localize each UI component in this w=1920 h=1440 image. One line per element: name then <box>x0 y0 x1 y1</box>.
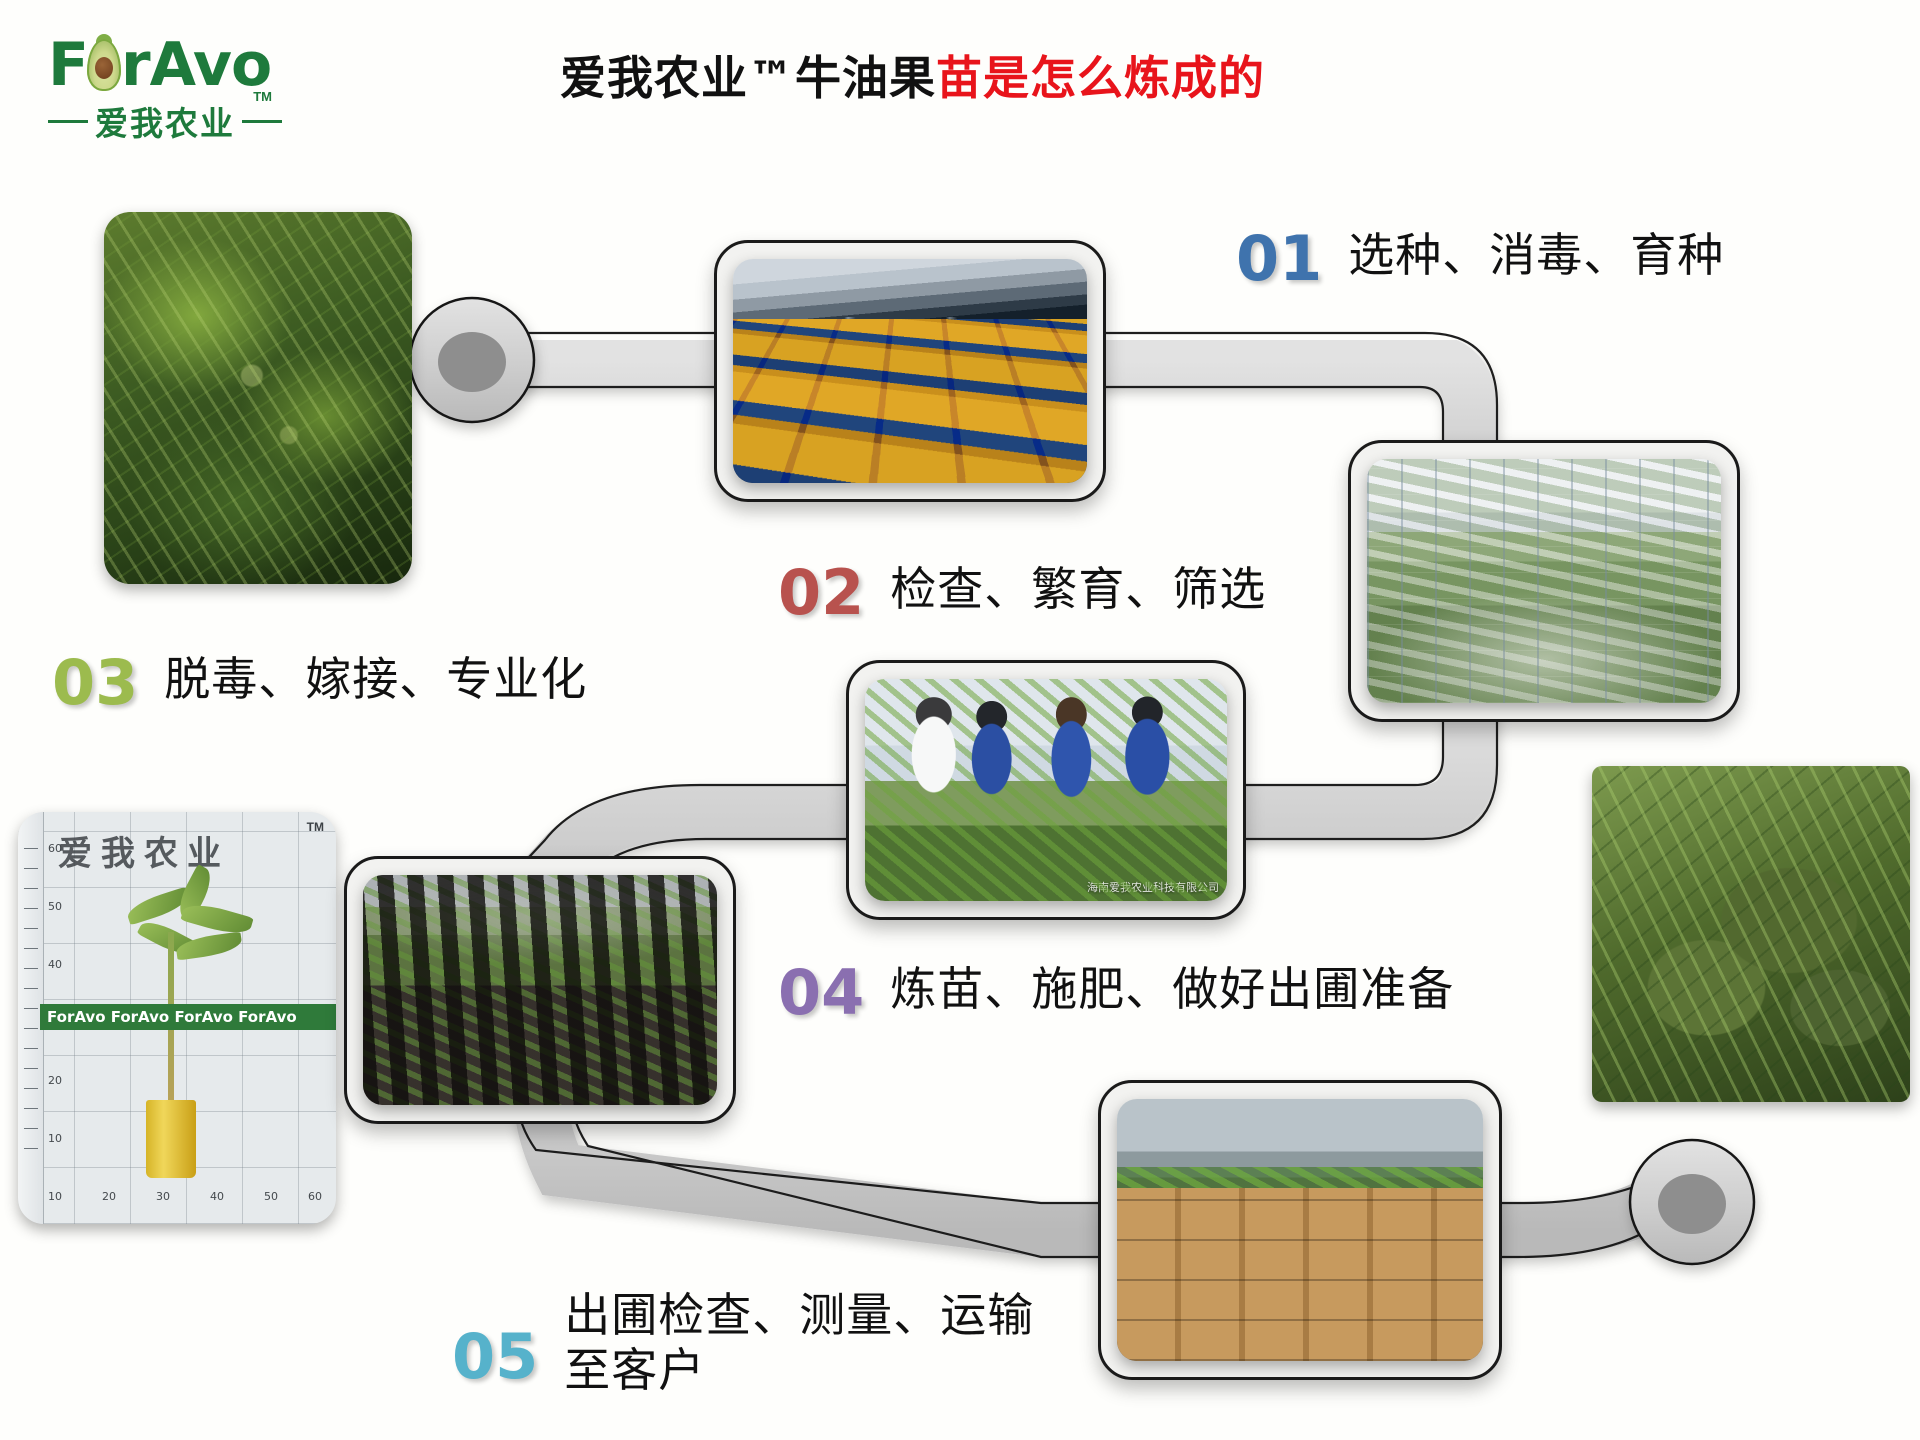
step-04-label: 炼苗、施肥、做好出圃准备 <box>890 962 1454 1017</box>
foravo-band: ForAvo ForAvo ForAvo ForAvo <box>40 1004 336 1030</box>
step-05-label: 出圃检查、测量、运输 至客户 <box>564 1288 1034 1398</box>
photo-packed-boxes-shipping: 爱我农业 牛油果嫁接苗 25株装 订购电话：400-615-9916 ForAv… <box>1117 1099 1483 1361</box>
photo-measured-seedling-ruler: 60 50 40 30 20 10 爱我农业 TM ForAvo ForAvo … <box>18 812 336 1224</box>
title-red-segment: 苗是怎么炼成的 <box>936 51 1265 105</box>
box-side-text: ForAvo <box>1405 1275 1475 1296</box>
step-05-number: 05 <box>452 1326 538 1388</box>
seedling-pot <box>146 1100 196 1178</box>
step-01: 01 选种、消毒、育种 <box>1236 228 1724 290</box>
logo-rule-right <box>242 120 282 123</box>
brand-logo: F rAvo 爱我农业 TM <box>48 34 328 144</box>
ruler-bottom-tick-30: 30 <box>156 1190 170 1203</box>
box-brand-text: 爱我农业 <box>1251 1279 1291 1290</box>
photo-seed-trays-greenhouse <box>733 259 1087 483</box>
ruler-tick-20: 20 <box>48 1074 62 1087</box>
box-brand-label: 爱我农业 牛油果嫁接苗 25株装 订购电话：400-615-9916 <box>1225 1279 1317 1342</box>
step-05-label-line1: 出圃检查、测量、运输 <box>564 1288 1034 1342</box>
title-black-segment: 爱我农业™牛油果 <box>560 51 936 105</box>
ruler-bottom-tick-10: 10 <box>48 1190 62 1203</box>
photo-avocado-flower-branch <box>104 212 412 584</box>
step-02-label: 检查、繁育、筛选 <box>890 562 1266 617</box>
photo-potted-seedlings-rows <box>363 875 717 1105</box>
logo-letter-f: F <box>48 35 87 95</box>
step-01-label: 选种、消毒、育种 <box>1348 228 1724 283</box>
logo-trademark-mark: TM <box>253 89 272 104</box>
step-03-label: 脱毒、嫁接、专业化 <box>164 652 587 707</box>
ruler-bottom-tick-20: 20 <box>102 1190 116 1203</box>
photo-staff-inspecting-plants: 海南爱我农业科技有限公司 <box>865 679 1227 901</box>
box-side-label: ForAvo <box>1405 1275 1475 1298</box>
photo-watermark: 海南爱我农业科技有限公司 <box>1087 879 1219 895</box>
logo-subtitle: 爱我农业 <box>48 97 328 145</box>
frame-packed-boxes: 爱我农业 牛油果嫁接苗 25株装 订购电话：400-615-9916 ForAv… <box>1098 1080 1502 1380</box>
ruler-tick-10: 10 <box>48 1132 62 1145</box>
page-title: 爱我农业™牛油果苗是怎么炼成的 <box>560 42 1460 108</box>
frame-potted-seedlings <box>344 856 736 1124</box>
photo-greenhouse-bagged-plants <box>1367 459 1721 703</box>
foravo-band-text: ForAvo ForAvo ForAvo ForAvo <box>40 1008 297 1026</box>
ruler-bottom-tick-60: 60 <box>308 1190 322 1203</box>
box-line4-text: 订购电话：400-615-9916 <box>1235 1317 1308 1341</box>
frame-greenhouse <box>1348 440 1740 722</box>
avocado-icon <box>84 37 124 93</box>
box-line2-text: 牛油果嫁接苗 <box>1241 1292 1301 1303</box>
ruler-tick-50: 50 <box>48 900 62 913</box>
logo-wordmark: F rAvo <box>48 34 328 96</box>
ruler-tick-40: 40 <box>48 958 62 971</box>
ribbon-end-knob <box>1630 1140 1754 1264</box>
step-03: 03 脱毒、嫁接、专业化 <box>52 652 587 714</box>
step-02-number: 02 <box>778 562 864 624</box>
step-04-number: 04 <box>778 962 864 1024</box>
step-01-number: 01 <box>1236 228 1322 290</box>
frame-seed-trays <box>714 240 1106 502</box>
ribbon-start-knob <box>410 298 534 422</box>
step-03-number: 03 <box>52 652 138 714</box>
step-05-label-line2: 至客户 <box>564 1343 705 1397</box>
ruler-watermark-tm: TM <box>307 820 324 834</box>
box-line3-text: 25株装 <box>1255 1304 1288 1315</box>
step-02: 02 检查、繁育、筛选 <box>778 562 1266 624</box>
step-05: 05 出圃检查、测量、运输 至客户 <box>452 1288 1034 1398</box>
frame-staff-inspecting: 海南爱我农业科技有限公司 <box>846 660 1246 920</box>
slide-canvas: F rAvo 爱我农业 TM 爱我农业™牛油果苗是怎么炼成的 <box>0 0 1920 1440</box>
step-04: 04 炼苗、施肥、做好出圃准备 <box>778 962 1454 1024</box>
photo-avocado-fruit-on-tree <box>1592 766 1910 1102</box>
logo-chinese-name: 爱我农业 <box>95 97 235 145</box>
logo-letters-ravo: rAvo <box>121 35 271 95</box>
ruler-bottom-tick-40: 40 <box>210 1190 224 1203</box>
ruler-bottom-tick-50: 50 <box>264 1190 278 1203</box>
logo-rule-left <box>48 120 88 123</box>
